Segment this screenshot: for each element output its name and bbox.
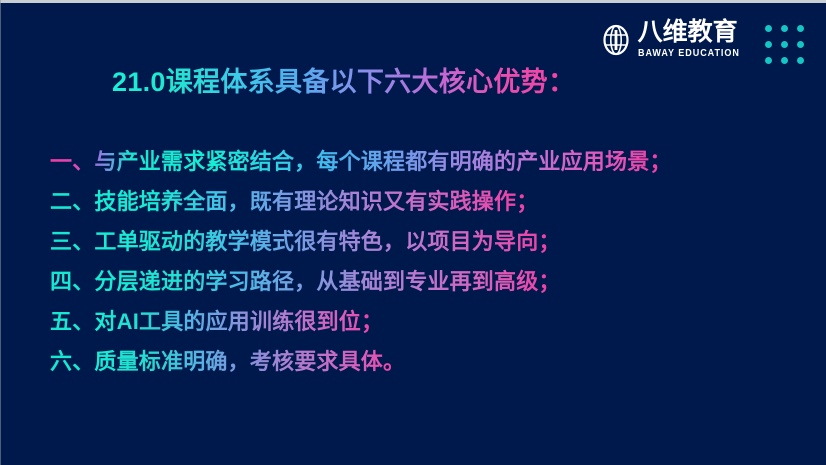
list-item-marker: 五、 — [50, 309, 94, 334]
list-item-marker: 二、 — [50, 189, 94, 214]
list-item: 三、工单驱动的教学模式很有特色，以项目为导向； — [50, 220, 810, 260]
logo-dot-grid — [765, 25, 804, 64]
advantages-list: 一、与产业需求紧密结合，每个课程都有明确的产业应用场景； 二、技能培养全面，既有… — [50, 140, 810, 380]
list-item: 一、与产业需求紧密结合，每个课程都有明确的产业应用场景； — [50, 140, 810, 180]
list-item: 五、对AI工具的应用训练很到位； — [50, 300, 810, 340]
slide-canvas: 八维教育 BAWAY EDUCATION 21.0课程体系具备以下六大核心优势：… — [0, 0, 826, 465]
list-item: 二、技能培养全面，既有理论知识又有实践操作； — [50, 180, 810, 220]
logo-dot — [797, 25, 804, 32]
top-edge-strip — [0, 0, 826, 3]
logo-dot — [765, 57, 772, 64]
list-item-text: 技能培养全面，既有理论知识又有实践操作； — [94, 189, 538, 214]
logo-dot — [781, 41, 788, 48]
list-item-marker: 六、 — [50, 349, 94, 374]
logo-mark: 八维教育 BAWAY EDUCATION — [600, 20, 756, 59]
logo-english-name: BAWAY EDUCATION — [638, 48, 740, 59]
list-item-text: 与产业需求紧密结合，每个课程都有明确的产业应用场景； — [94, 149, 671, 174]
logo-dot — [765, 41, 772, 48]
list-item-text: 对AI工具的应用训练很到位； — [94, 309, 383, 334]
logo-dot — [781, 25, 788, 32]
list-item-text: 分层递进的学习路径，从基础到专业再到高级； — [94, 269, 560, 294]
left-edge-strip — [0, 0, 1, 465]
logo-dot — [797, 57, 804, 64]
list-item-text: 工单驱动的教学模式很有特色，以项目为导向； — [94, 229, 560, 254]
list-item-marker: 三、 — [50, 229, 94, 254]
globe-emblem-icon — [600, 24, 632, 56]
list-item: 四、分层递进的学习路径，从基础到专业再到高级； — [50, 260, 810, 300]
logo-chinese-name: 八维教育 — [638, 20, 738, 45]
logo-wordmark: 八维教育 BAWAY EDUCATION — [638, 20, 756, 59]
logo-dot — [781, 57, 788, 64]
list-item-marker: 一、 — [50, 149, 94, 174]
logo-dot — [797, 41, 804, 48]
list-item: 六、质量标准明确，考核要求具体。 — [50, 340, 810, 380]
logo-dot — [765, 25, 772, 32]
brand-logo: 八维教育 BAWAY EDUCATION — [600, 20, 804, 64]
slide-title: 21.0课程体系具备以下六大核心优势： — [112, 60, 575, 99]
list-item-text: 质量标准明确，考核要求具体。 — [94, 349, 405, 374]
list-item-marker: 四、 — [50, 269, 94, 294]
